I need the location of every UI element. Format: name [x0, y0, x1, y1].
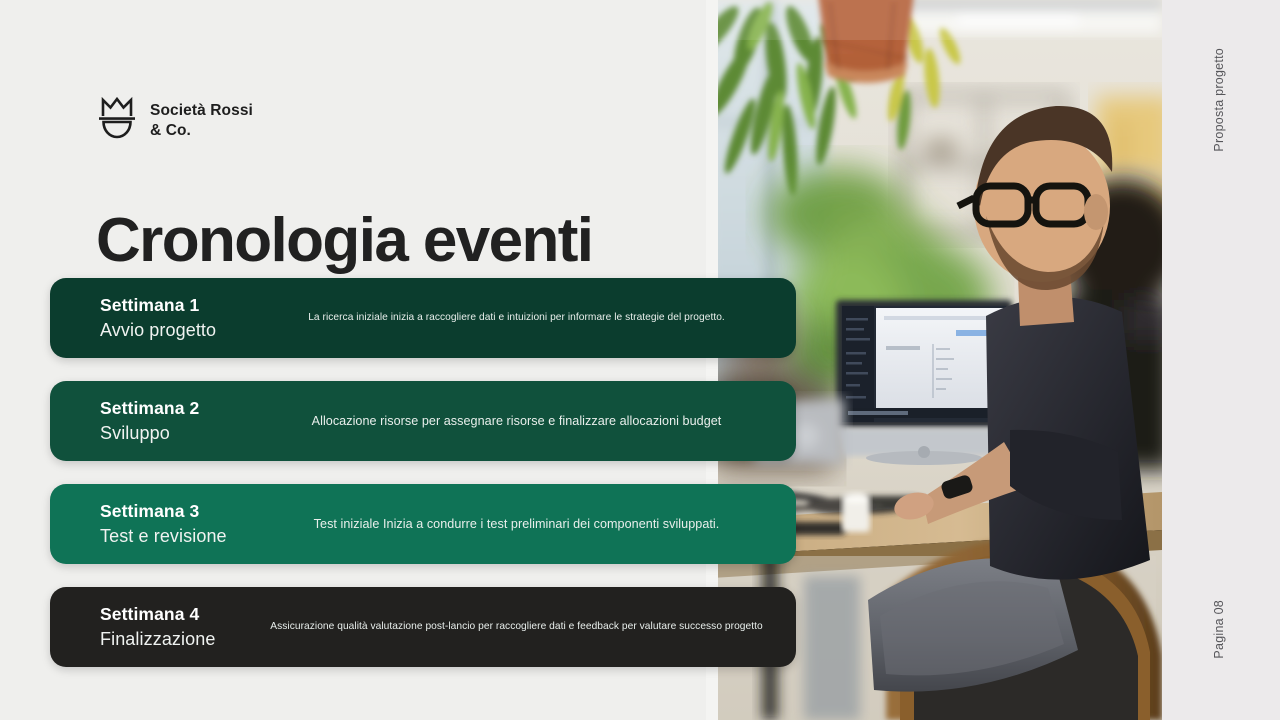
- timeline-row-2-week: Settimana 2: [100, 396, 265, 421]
- timeline-row-3-description: Test iniziale Inizia a condurre i test p…: [265, 516, 796, 533]
- timeline-row-3-phase: Test e revisione: [100, 524, 265, 548]
- brand-name: Società Rossi & Co.: [150, 101, 253, 142]
- page-title: Cronologia eventi: [96, 210, 592, 272]
- brand-logo: Società Rossi & Co.: [98, 96, 253, 146]
- crown-bowl-mark-icon: [98, 96, 136, 146]
- timeline-row-1[interactable]: Settimana 1 Avvio progetto La ricerca in…: [50, 278, 796, 358]
- timeline-row-1-week: Settimana 1: [100, 293, 265, 318]
- timeline-row-3-week: Settimana 3: [100, 499, 265, 524]
- timeline-row-1-description: La ricerca iniziale inizia a raccogliere…: [265, 311, 796, 325]
- timeline-row-3[interactable]: Settimana 3 Test e revisione Test inizia…: [50, 484, 796, 564]
- proposal-side-label: Proposta progetto: [1212, 48, 1226, 152]
- timeline-row-3-labels: Settimana 3 Test e revisione: [50, 499, 265, 548]
- timeline-row-2[interactable]: Settimana 2 Sviluppo Allocazione risorse…: [50, 381, 796, 461]
- timeline-row-1-phase: Avvio progetto: [100, 318, 265, 342]
- timeline-row-4-labels: Settimana 4 Finalizzazione: [50, 602, 265, 651]
- timeline-row-1-labels: Settimana 1 Avvio progetto: [50, 293, 265, 342]
- page-number-label: Pagina 08: [1212, 600, 1226, 659]
- timeline-row-2-labels: Settimana 2 Sviluppo: [50, 396, 265, 445]
- timeline-row-4-description: Assicurazione qualità valutazione post-l…: [265, 620, 796, 634]
- timeline-row-2-description: Allocazione risorse per assegnare risors…: [265, 413, 796, 430]
- timeline-row-4[interactable]: Settimana 4 Finalizzazione Assicurazione…: [50, 587, 796, 667]
- timeline-row-4-phase: Finalizzazione: [100, 627, 265, 651]
- timeline-row-4-week: Settimana 4: [100, 602, 265, 627]
- slide-canvas: Società Rossi & Co. Cronologia eventi Se…: [0, 0, 1280, 720]
- timeline-list: Settimana 1 Avvio progetto La ricerca in…: [50, 278, 796, 667]
- timeline-row-2-phase: Sviluppo: [100, 421, 265, 445]
